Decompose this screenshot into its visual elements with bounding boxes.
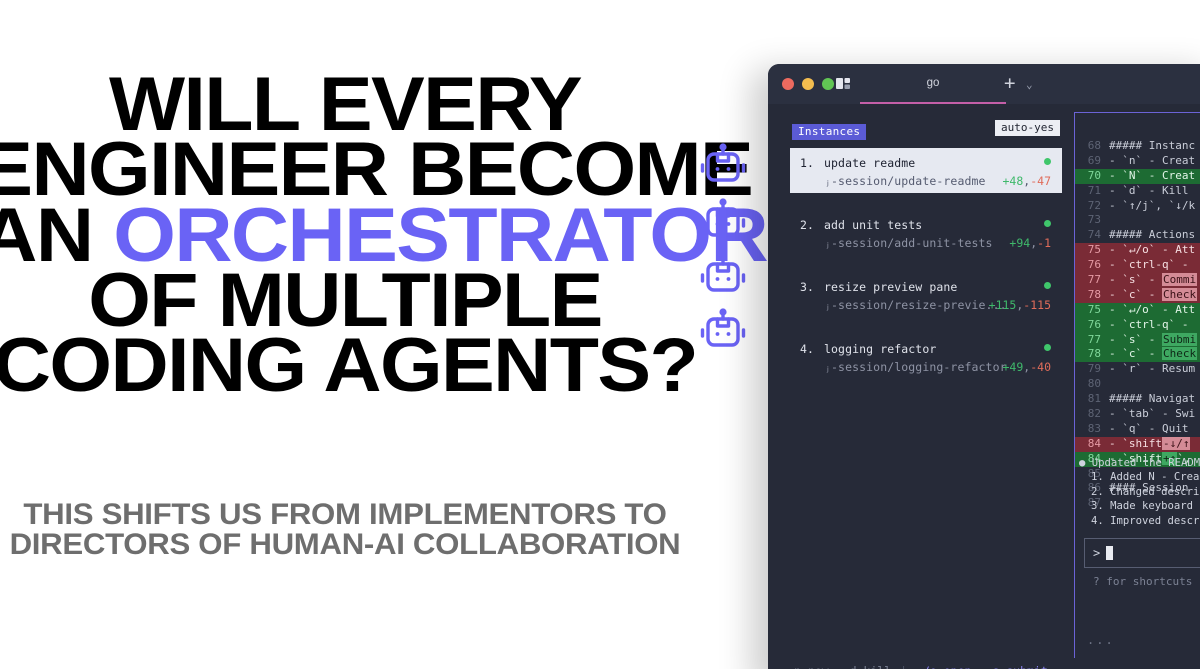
- badge-row: Instances auto-yes: [792, 120, 1060, 137]
- line-text: - `s` - Submi: [1109, 333, 1197, 346]
- subtitle-line-2: DIRECTORS OF HUMAN-AI COLLABORATION: [0, 530, 704, 560]
- line-text: - `ctrl-q` -: [1109, 318, 1188, 331]
- code-line: 81##### Navigat: [1075, 392, 1200, 407]
- instance-diffstat: +49,-40: [1003, 360, 1052, 374]
- code-line: 78- `c` - Check: [1075, 288, 1200, 303]
- instance-title: update readme: [824, 156, 915, 170]
- diff-removed: -47: [1030, 174, 1051, 188]
- word-diff-highlight: Check: [1162, 347, 1197, 360]
- line-number: 81: [1079, 392, 1101, 407]
- page-subtitle: THIS SHIFTS US FROM IMPLEMENTORS TO DIRE…: [0, 500, 704, 560]
- screenshot-root: WILL EVERY ENGINEER BECOME AN ORCHESTRAT…: [0, 0, 1200, 669]
- status-badge: [1044, 344, 1051, 351]
- diff-removed: -115: [1023, 298, 1051, 312]
- list-item[interactable]: 3.resize preview pane ⱼ-session/resize-p…: [790, 272, 1062, 317]
- code-line: 70- `N` - Creat: [1075, 169, 1200, 184]
- split-pane-icon[interactable]: [836, 77, 850, 90]
- instance-diffstat: +48,-47: [1003, 174, 1052, 188]
- line-text: - `q` - Quit: [1109, 422, 1188, 435]
- summary-item: 2. Changed descripti: [1079, 485, 1200, 499]
- terminal-window: go + ⌄ Instances auto-yes 1.update readm…: [768, 64, 1200, 669]
- status-kill[interactable]: d kill: [850, 664, 892, 669]
- line-number: 78: [1079, 288, 1101, 303]
- robot-head-icon: [697, 141, 749, 185]
- instance-title: add unit tests: [824, 218, 922, 232]
- robot-head-icon: [697, 306, 749, 350]
- line-text: - `N` - Creat: [1109, 169, 1195, 182]
- instance-title: resize preview pane: [824, 280, 957, 294]
- code-line: 68##### Instanc: [1075, 139, 1200, 154]
- code-line: 83- `q` - Quit: [1075, 422, 1200, 437]
- summary-item: 4. Improved descript: [1079, 514, 1200, 528]
- tab-label: go: [927, 77, 940, 89]
- code-line: 79- `r` - Resum: [1075, 362, 1200, 377]
- line-number: 77: [1079, 333, 1101, 348]
- code-line: 77- `s` - Submi: [1075, 333, 1200, 348]
- headline-line-5: CODING AGENTS?: [0, 333, 711, 398]
- word-diff-highlight: Commi: [1162, 273, 1197, 286]
- code-line: 69- `n` - Creat: [1075, 154, 1200, 169]
- code-line: 77- `s` - Commi: [1075, 273, 1200, 288]
- code-line: 71- `d` - Kill: [1075, 184, 1200, 199]
- line-number: 79: [1079, 362, 1101, 377]
- status-new[interactable]: n new: [794, 664, 829, 669]
- line-number: 75: [1079, 243, 1101, 258]
- code-line: 75- `↵/o` - Att: [1075, 303, 1200, 318]
- line-text: - `tab` - Swi: [1109, 407, 1195, 420]
- instance-number: 4.: [800, 342, 824, 356]
- status-badge: [1044, 220, 1051, 227]
- line-text: - `n` - Creat: [1109, 154, 1195, 167]
- word-diff-highlight: Submi: [1162, 333, 1197, 346]
- status-open[interactable]: ↵/o open: [916, 664, 971, 669]
- code-line: 76- `ctrl-q` -: [1075, 318, 1200, 333]
- robot-head-icon: [697, 251, 749, 295]
- summary-block: ● Updated the README.m1. Added N - Creat…: [1079, 456, 1200, 528]
- instance-title-row: 3.resize preview pane: [800, 280, 1052, 294]
- diff-removed: -40: [1030, 360, 1051, 374]
- line-number: 84: [1079, 437, 1101, 452]
- list-item[interactable]: 2.add unit tests ⱼ-session/add-unit-test…: [790, 210, 1062, 255]
- summary-headline: ● Updated the README.m: [1079, 456, 1200, 470]
- preview-pane-title: Pr: [1075, 113, 1200, 139]
- instance-title: logging refactor: [824, 342, 936, 356]
- line-number: 71: [1079, 184, 1101, 199]
- line-number: 73: [1079, 213, 1101, 228]
- line-number: 76: [1079, 258, 1101, 273]
- code-line: 75- `↵/o` - Att: [1075, 243, 1200, 258]
- diff-removed: -1: [1037, 236, 1051, 250]
- status-bar: n new · d kill | ↵/o open · s submit: [768, 658, 1200, 669]
- traffic-lights: [782, 78, 834, 90]
- line-number: 82: [1079, 407, 1101, 422]
- line-text: - `c` - Check: [1109, 288, 1197, 301]
- line-number: 80: [1079, 377, 1101, 392]
- line-number: 69: [1079, 154, 1101, 169]
- word-diff-highlight: Check: [1162, 288, 1197, 301]
- line-number: 76: [1079, 318, 1101, 333]
- status-submit[interactable]: s submit: [992, 664, 1047, 669]
- status-dot-sep-2: ·: [978, 664, 985, 669]
- code-line: 84- `shift-↓/↑: [1075, 437, 1200, 452]
- tab-go[interactable]: go: [860, 64, 1006, 104]
- summary-item: 3. Made keyboard sho: [1079, 499, 1200, 513]
- code-line: 74##### Actions: [1075, 228, 1200, 243]
- prompt-caret: >: [1093, 546, 1100, 560]
- word-diff-highlight: -↓/↑: [1162, 437, 1191, 450]
- line-text: - `r` - Resum: [1109, 362, 1195, 375]
- truncation-ellipsis: ...: [1087, 633, 1115, 647]
- diff-added: +94: [1009, 236, 1030, 250]
- code-line: 78- `c` - Check: [1075, 347, 1200, 362]
- line-number: 72: [1079, 199, 1101, 214]
- auto-yes-badge[interactable]: auto-yes: [995, 120, 1060, 136]
- code-line: 76- `ctrl-q` -: [1075, 258, 1200, 273]
- zoom-window-button[interactable]: [822, 78, 834, 90]
- code-line: 80: [1075, 377, 1200, 392]
- close-window-button[interactable]: [782, 78, 794, 90]
- line-number: 70: [1079, 169, 1101, 184]
- instance-title-row: 1.update readme: [800, 156, 1052, 170]
- line-text: - `shift-↓/↑: [1109, 437, 1190, 450]
- robot-icon-column: [697, 141, 753, 350]
- shortcuts-hint: ? for shortcuts: [1093, 575, 1192, 588]
- status-pipe-sep: |: [900, 664, 907, 669]
- line-text: - `↑/j`, `↓/k: [1109, 199, 1195, 212]
- instance-number: 2.: [800, 218, 824, 232]
- text-cursor: [1106, 546, 1113, 560]
- instance-title-row: 4.logging refactor: [800, 342, 1052, 356]
- instance-number: 1.: [800, 156, 824, 170]
- line-text: ##### Navigat: [1109, 392, 1195, 405]
- instance-title-row: 2.add unit tests: [800, 218, 1052, 232]
- instances-badge: Instances: [792, 124, 866, 140]
- poster-panel: WILL EVERY ENGINEER BECOME AN ORCHESTRAT…: [0, 0, 760, 669]
- list-item[interactable]: 4.logging refactor ⱼ-session/logging-ref…: [790, 334, 1062, 379]
- line-text: ##### Actions: [1109, 228, 1195, 241]
- diff-added: +49: [1003, 360, 1024, 374]
- line-number: 75: [1079, 303, 1101, 318]
- line-text: - `↵/o` - Att: [1109, 243, 1195, 256]
- list-item[interactable]: 1.update readme ⱼ-session/update-readme …: [790, 148, 1062, 193]
- code-line: 82- `tab` - Swi: [1075, 407, 1200, 422]
- status-badge: [1044, 282, 1051, 289]
- line-number: 74: [1079, 228, 1101, 243]
- preview-pane[interactable]: Pr 68##### Instanc69- `n` - Creat70- `N`…: [1074, 112, 1200, 664]
- line-text: ##### Instanc: [1109, 139, 1195, 152]
- code-line: 73: [1075, 213, 1200, 228]
- instance-diffstat: +94,-1: [1009, 236, 1051, 250]
- line-number: 83: [1079, 422, 1101, 437]
- prompt-input[interactable]: >: [1084, 538, 1200, 568]
- line-number: 77: [1079, 273, 1101, 288]
- line-number: 78: [1079, 347, 1101, 362]
- terminal-body: Instances auto-yes 1.update readme ⱼ-ses…: [768, 104, 1200, 669]
- diff-added: +48: [1003, 174, 1024, 188]
- new-tab-button[interactable]: +: [1004, 74, 1015, 93]
- diff-added: +115: [989, 298, 1017, 312]
- robot-head-icon: [697, 196, 749, 240]
- line-text: - `d` - Kill: [1109, 184, 1188, 197]
- minimize-window-button[interactable]: [802, 78, 814, 90]
- instance-list: 1.update readme ⱼ-session/update-readme …: [790, 148, 1062, 396]
- status-dot-sep: ·: [836, 664, 843, 669]
- line-text: - `c` - Check: [1109, 347, 1197, 360]
- window-titlebar: go + ⌄: [768, 64, 1200, 104]
- code-line: 72- `↑/j`, `↓/k: [1075, 199, 1200, 214]
- instance-number: 3.: [800, 280, 824, 294]
- page-title: WILL EVERY ENGINEER BECOME AN ORCHESTRAT…: [0, 72, 711, 399]
- instance-diffstat: +115,-115: [989, 298, 1051, 312]
- line-text: - `ctrl-q` -: [1109, 258, 1188, 271]
- line-text: - `↵/o` - Att: [1109, 303, 1195, 316]
- line-number: 68: [1079, 139, 1101, 154]
- status-badge: [1044, 158, 1051, 165]
- subtitle-line-1: THIS SHIFTS US FROM IMPLEMENTORS TO: [0, 500, 704, 530]
- chevron-down-icon[interactable]: ⌄: [1026, 78, 1033, 91]
- line-text: - `s` - Commi: [1109, 273, 1197, 286]
- summary-item: 1. Added N - Create: [1079, 470, 1200, 484]
